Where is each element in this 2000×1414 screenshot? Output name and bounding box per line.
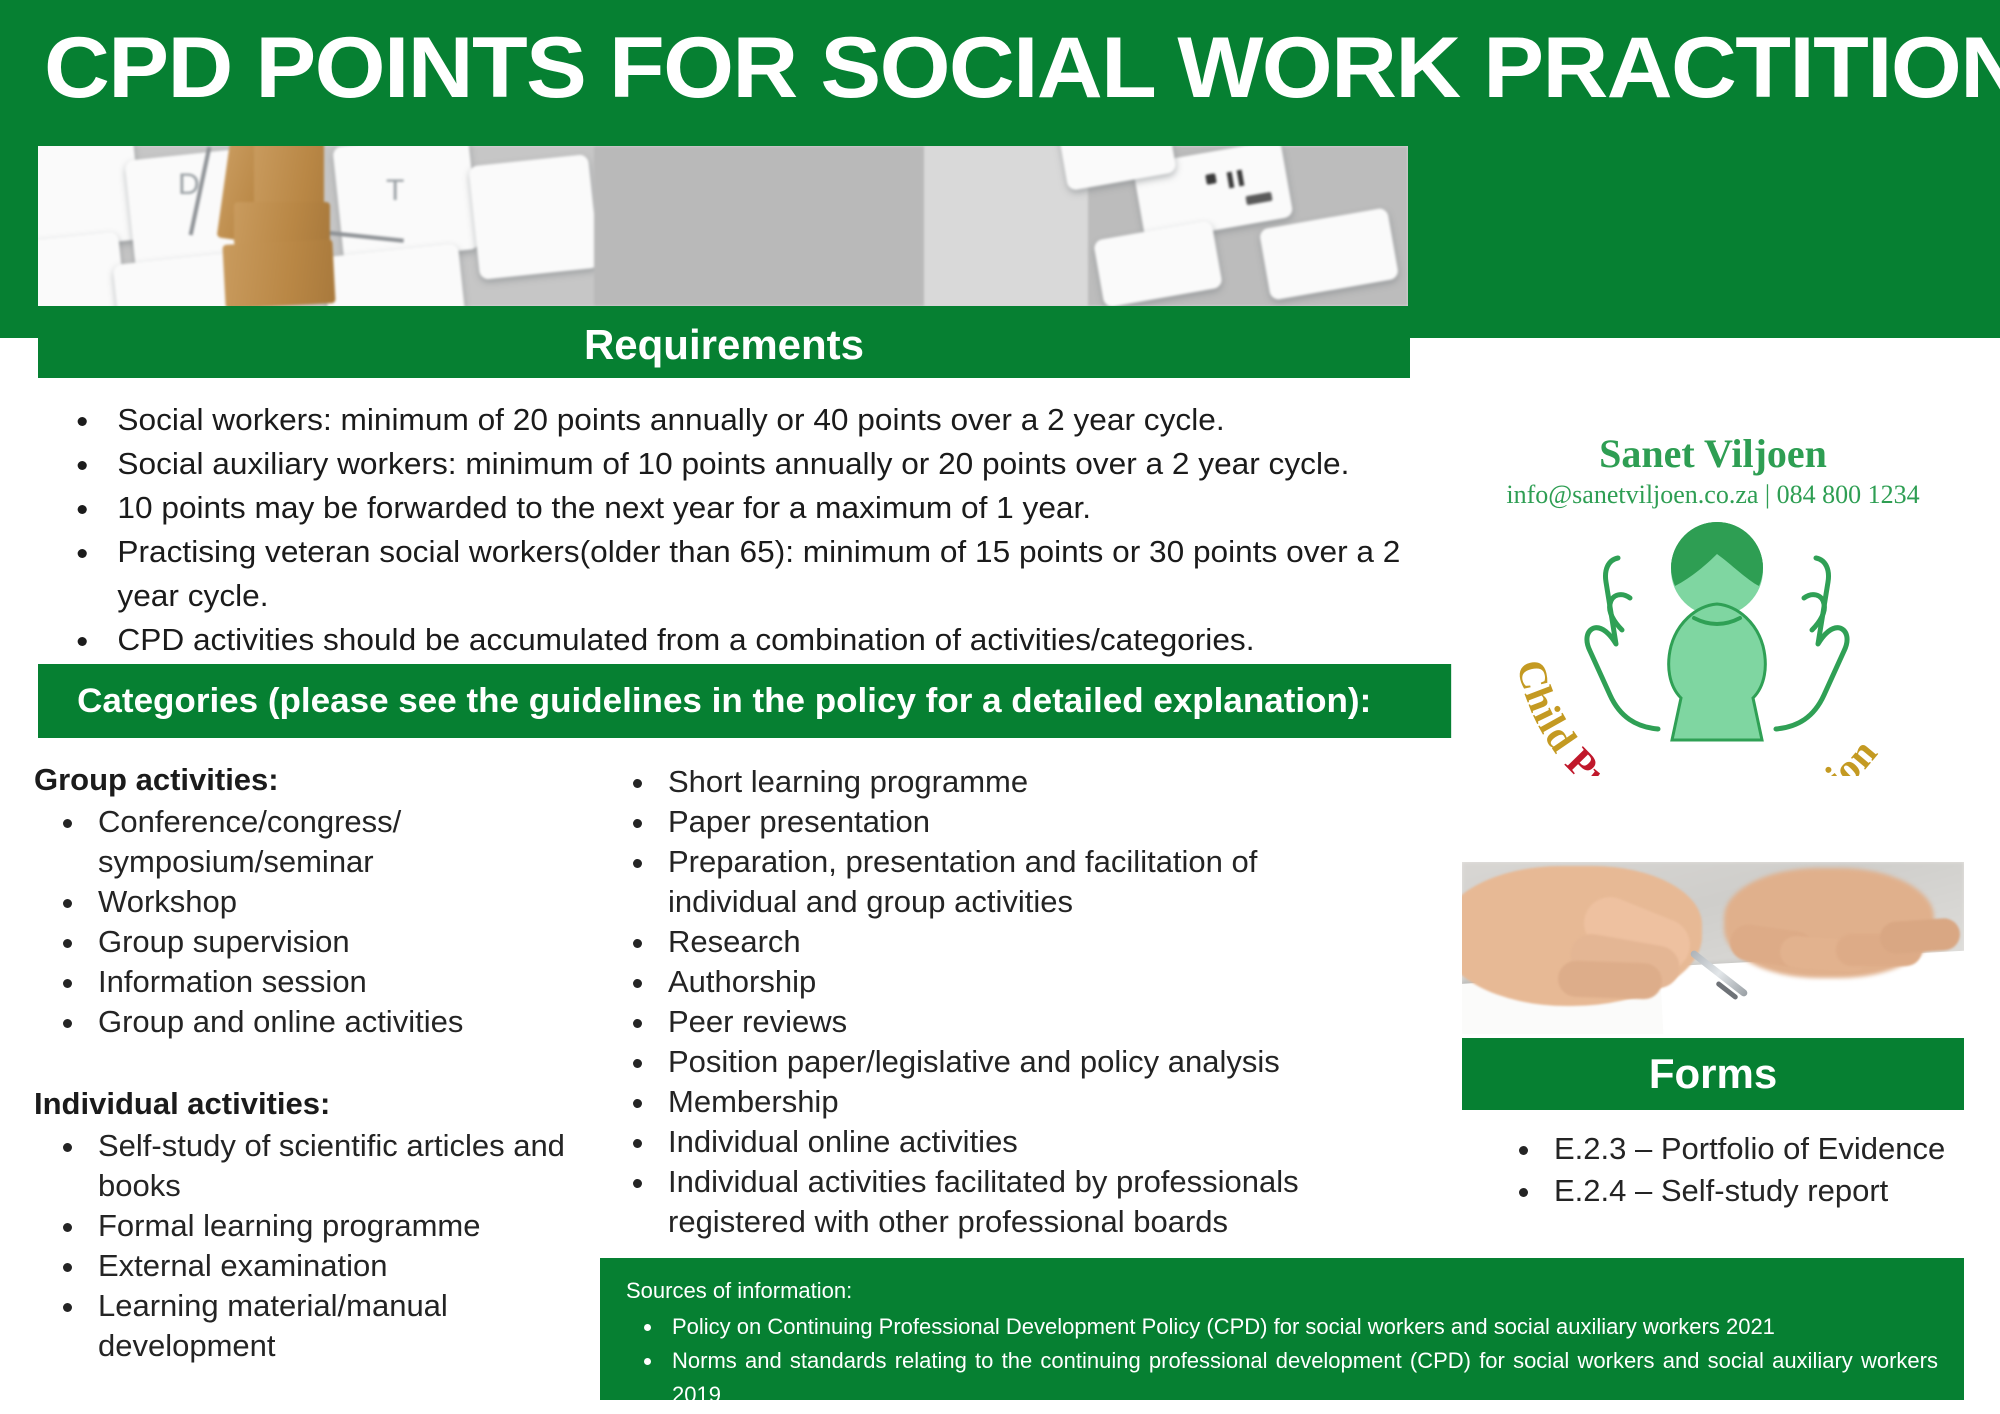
list-item: Social workers: minimum of 20 points ann… [103,398,1443,442]
forms-list: E.2.3 – Portfolio of Evidence E.2.4 – Se… [1490,1128,1990,1212]
list-item: Workshop [88,882,594,922]
list-item: Learning material/manual development [88,1286,594,1366]
list-item: 10 points may be forwarded to the next y… [103,486,1443,530]
child-figure-icon [1669,522,1766,740]
keyboard-photo: D T [38,146,1408,306]
list-item: CPD activities should be accumulated fro… [103,618,1443,662]
brand-name: Sanet Viljoen [1462,432,1964,476]
keyboard-photo-right-fade [1088,146,1408,306]
forms-header-bar: Forms [1462,1038,1964,1110]
list-item: Preparation, presentation and facilitati… [658,842,1372,922]
list-item: E.2.4 – Self-study report [1544,1170,1990,1212]
list-item: Practising veteran social workers(older … [103,530,1443,618]
list-item: Position paper/legislative and policy an… [658,1042,1372,1082]
page-title: CPD POINTS FOR SOCIAL WORK PRACTITIONERS [44,14,2000,122]
list-item: Social auxiliary workers: minimum of 10 … [103,442,1443,486]
child-protection-in-action-logo: Child Protection in Action [1502,506,1932,776]
signing-document-photo [1462,862,1964,1034]
list-item: Information session [88,962,594,1002]
list-item: Formal learning programme [88,1206,594,1246]
list-item: Norms and standards relating to the cont… [664,1344,1938,1412]
list-item: Group and online activities [88,1002,594,1042]
categories-left-column: Group activities: Conference/congress/ s… [34,760,594,1366]
poster-root: CPD POINTS FOR SOCIAL WORK PRACTITIONERS… [0,0,2000,1414]
individual-activities-list: Self-study of scientific articles and bo… [88,1126,594,1366]
right-hand-icon [1776,558,1847,729]
list-item: E.2.3 – Portfolio of Evidence [1544,1128,1990,1170]
requirements-list: Social workers: minimum of 20 points ann… [46,398,1443,662]
list-item: Conference/congress/ symposium/seminar [88,802,594,882]
categories-header-bar: Categories (please see the guidelines in… [38,664,1451,738]
categories-heading: Categories (please see the guidelines in… [77,682,1371,721]
sources-panel: Sources of information: Policy on Contin… [600,1258,1964,1400]
forms-heading: Forms [1649,1050,1777,1098]
list-item: Authorship [658,962,1372,1002]
list-item: Policy on Continuing Professional Develo… [664,1310,1938,1344]
list-item: Self-study of scientific articles and bo… [88,1126,594,1206]
list-item: Peer reviews [658,1002,1372,1042]
logo-text-protection: Protection [1557,739,1742,776]
list-item: Group supervision [88,922,594,962]
requirements-heading: Requirements [584,321,864,369]
sources-heading: Sources of information: [626,1274,1938,1308]
group-activities-list: Conference/congress/ symposium/seminar W… [88,802,594,1042]
sources-list: Policy on Continuing Professional Develo… [664,1310,1938,1412]
individual-activities-heading: Individual activities: [34,1084,594,1124]
list-item: Individual activities facilitated by pro… [658,1162,1372,1242]
categories-middle-column: Short learning programme Paper presentat… [612,760,1372,1242]
column-spacer [34,1042,594,1084]
requirements-header-bar: Requirements [38,312,1410,378]
logo-svg: Child Protection in Action [1502,506,1932,776]
list-item: Membership [658,1082,1372,1122]
list-item: Paper presentation [658,802,1372,842]
left-hand-icon [1587,558,1658,729]
group-activities-heading: Group activities: [34,760,594,800]
keyboard-photo-inner: D T [38,146,1408,306]
list-item: Research [658,922,1372,962]
list-item: Individual online activities [658,1122,1372,1162]
list-item: External examination [88,1246,594,1286]
list-item: Short learning programme [658,762,1372,802]
keyboard-photo-overlay [594,146,924,306]
categories-middle-list: Short learning programme Paper presentat… [658,762,1372,1242]
